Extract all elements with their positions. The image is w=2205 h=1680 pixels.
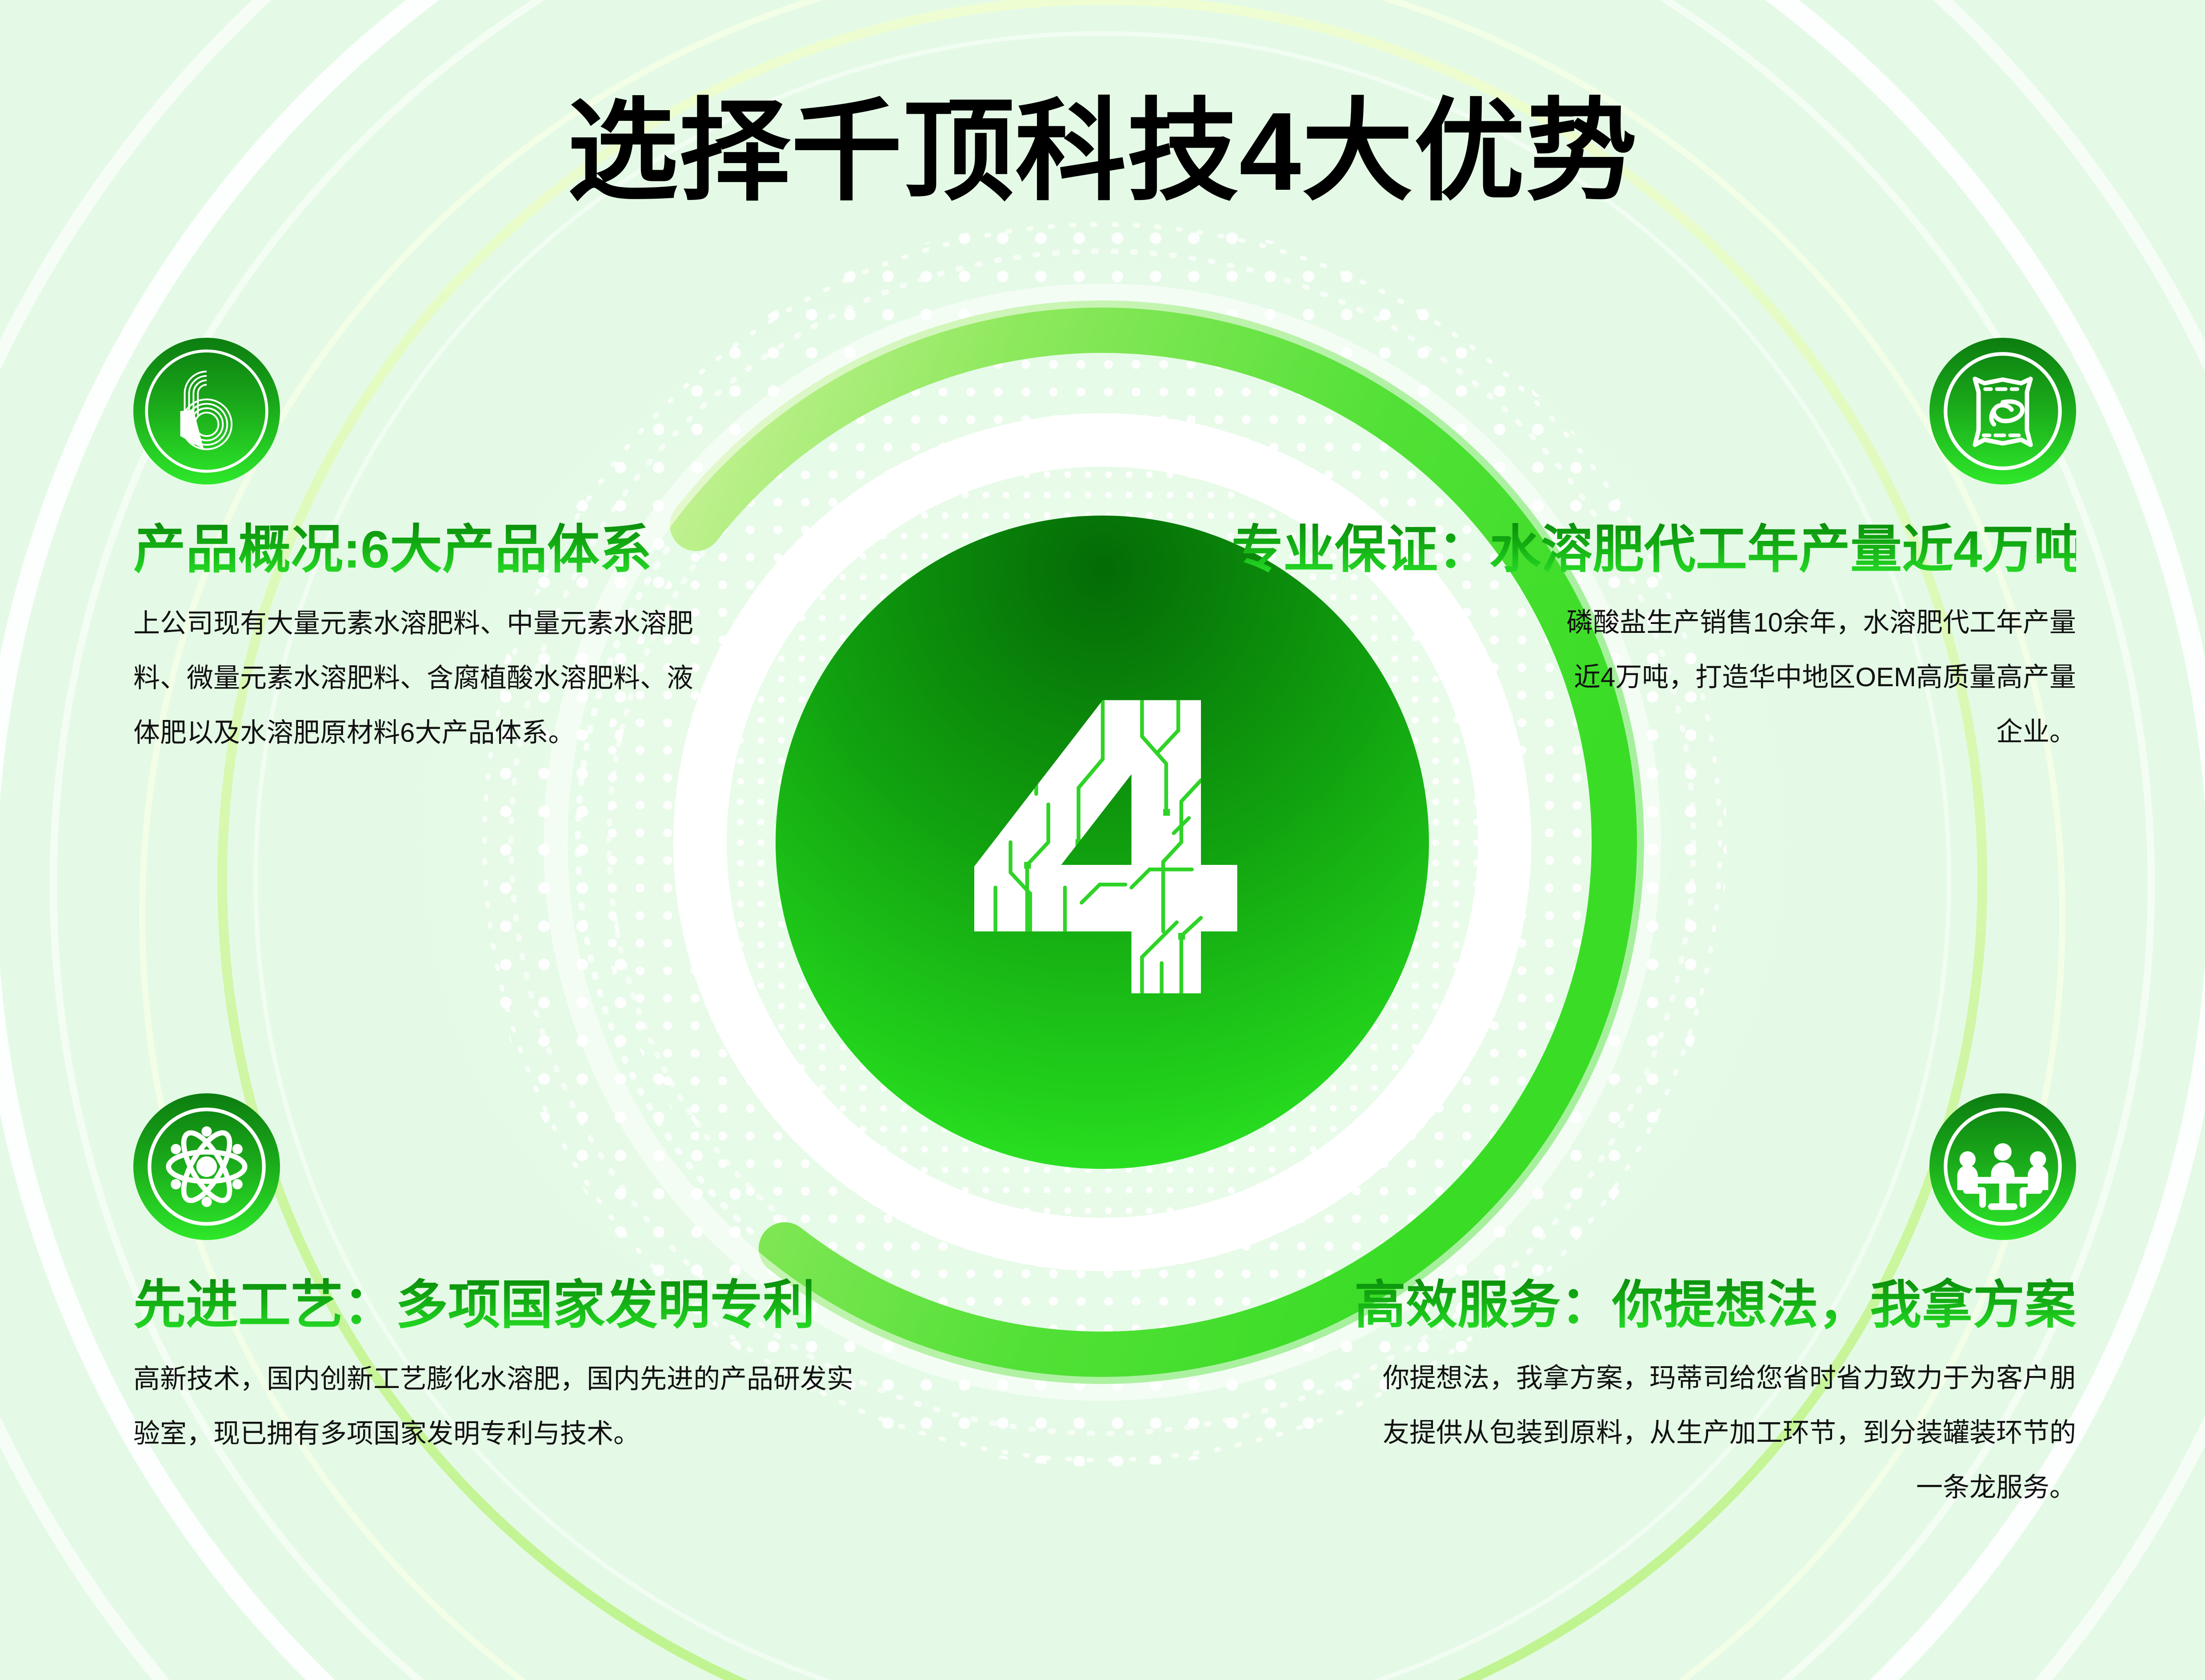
advantage-heading: 专业保证：水溶肥代工年产量近4万吨 [1232,519,2076,580]
advantage-body: 你提想法，我拿方案，玛蒂司给您省时省力致力于为客户朋友提供从包装到原料，从生产加… [1369,1351,2076,1515]
atom-icon [133,1093,280,1240]
fertilizer-bag-badge [1929,338,2076,484]
advantage-block-top-right: 专业保证：水溶肥代工年产量近4万吨 磷酸盐生产销售10余年，水溶肥代工年产量近4… [1232,338,2076,759]
advantage-heading: 产品概况:6大产品体系 [133,519,782,581]
advantages-infographic: 选择千顶科技4大优势 [0,0,2205,1680]
meeting-team-icon [1929,1093,2076,1240]
advantage-body: 上公司现有大量元素水溶肥料、中量元素水溶肥料、微量元素水溶肥料、含腐植酸水溶肥料… [133,596,698,760]
advantage-body: 高新技术，国内创新工艺膨化水溶肥，国内先进的产品研发实验室，现已拥有多项国家发明… [133,1352,876,1461]
number-six-rings-badge [133,338,280,484]
atom-badge [133,1093,280,1240]
advantage-block-top-left: 产品概况:6大产品体系 上公司现有大量元素水溶肥料、中量元素水溶肥料、微量元素水… [133,338,782,760]
meeting-team-badge [1929,1093,2076,1240]
advantage-body: 磷酸盐生产销售10余年，水溶肥代工年产量近4万吨，打造华中地区OEM高质量高产量… [1565,595,2076,759]
number-six-rings-icon [133,338,280,484]
advantage-block-bottom-left: 先进工艺：多项国家发明专利 高新技术，国内创新工艺膨化水溶肥，国内先进的产品研发… [133,1093,889,1461]
page-title: 选择千顶科技4大优势 [0,93,2205,210]
fertilizer-bag-icon [1929,338,2076,484]
advantage-heading: 高效服务：你提想法，我拿方案 [1281,1275,2076,1336]
advantage-block-bottom-right: 高效服务：你提想法，我拿方案 你提想法，我拿方案，玛蒂司给您省时省力致力于为客户… [1281,1093,2076,1515]
advantage-heading: 先进工艺：多项国家发明专利 [133,1275,889,1336]
